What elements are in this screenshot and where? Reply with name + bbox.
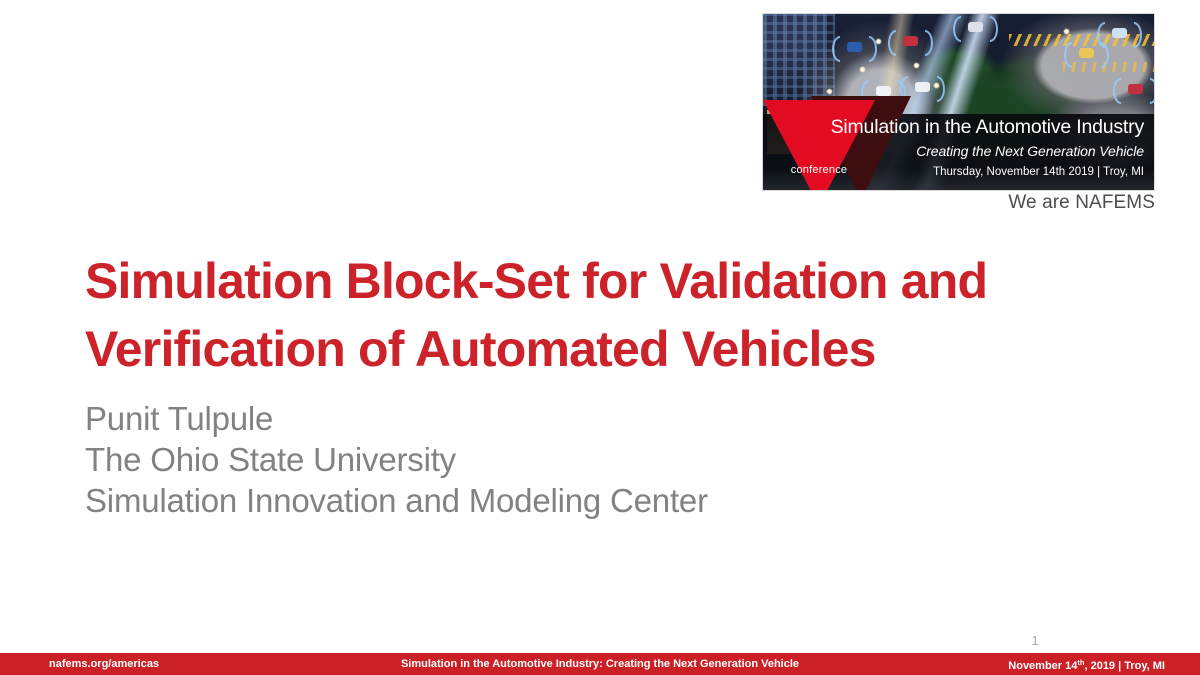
- street-lamp-icon: [859, 66, 866, 73]
- conference-title: Simulation in the Automotive Industry: [763, 114, 1144, 140]
- conference-banner-text: Simulation in the Automotive Industry Cr…: [763, 114, 1155, 191]
- connected-vehicle-icon: [847, 42, 862, 52]
- connected-vehicle-icon: [968, 22, 983, 32]
- connected-vehicle-icon: [915, 82, 930, 92]
- connected-vehicle-icon: [1079, 48, 1094, 58]
- connected-vehicle-icon: [1128, 84, 1143, 94]
- page-title-line-1: Simulation Block-Set for Validation and: [85, 253, 987, 309]
- footer-date-rest: , 2019 | Troy, MI: [1084, 660, 1165, 672]
- conference-banner: conference Simulation in the Automotive …: [762, 13, 1155, 196]
- conference-tagline: Creating the Next Generation Vehicle: [763, 140, 1144, 162]
- author-name: Punit Tulpule: [85, 398, 1085, 439]
- footer-date-month-day: November 14: [1008, 660, 1077, 672]
- author-department: Simulation Innovation and Modeling Cente…: [85, 480, 1085, 521]
- footer-date-location: November 14th, 2019 | Troy, MI: [1008, 658, 1165, 672]
- street-lamp-icon: [913, 62, 920, 69]
- page-title: Simulation Block-Set for Validation and …: [85, 247, 1145, 383]
- page-number: 1: [1000, 633, 1070, 648]
- author-institution: The Ohio State University: [85, 439, 1085, 480]
- author-block: Punit Tulpule The Ohio State University …: [85, 398, 1085, 521]
- presentation-slide: conference Simulation in the Automotive …: [0, 0, 1200, 675]
- conference-date-location: Thursday, November 14th 2019 | Troy, MI: [763, 162, 1144, 182]
- page-title-line-2: Verification of Automated Vehicles: [85, 321, 876, 377]
- nafems-tagline: We are NAFEMS: [890, 192, 1155, 214]
- conference-banner-image: conference Simulation in the Automotive …: [762, 13, 1155, 191]
- connected-vehicle-icon: [1112, 28, 1127, 38]
- slide-footer: nafems.org/americas Simulation in the Au…: [0, 653, 1200, 675]
- connected-vehicle-icon: [903, 36, 918, 46]
- street-lamp-icon: [1063, 28, 1070, 35]
